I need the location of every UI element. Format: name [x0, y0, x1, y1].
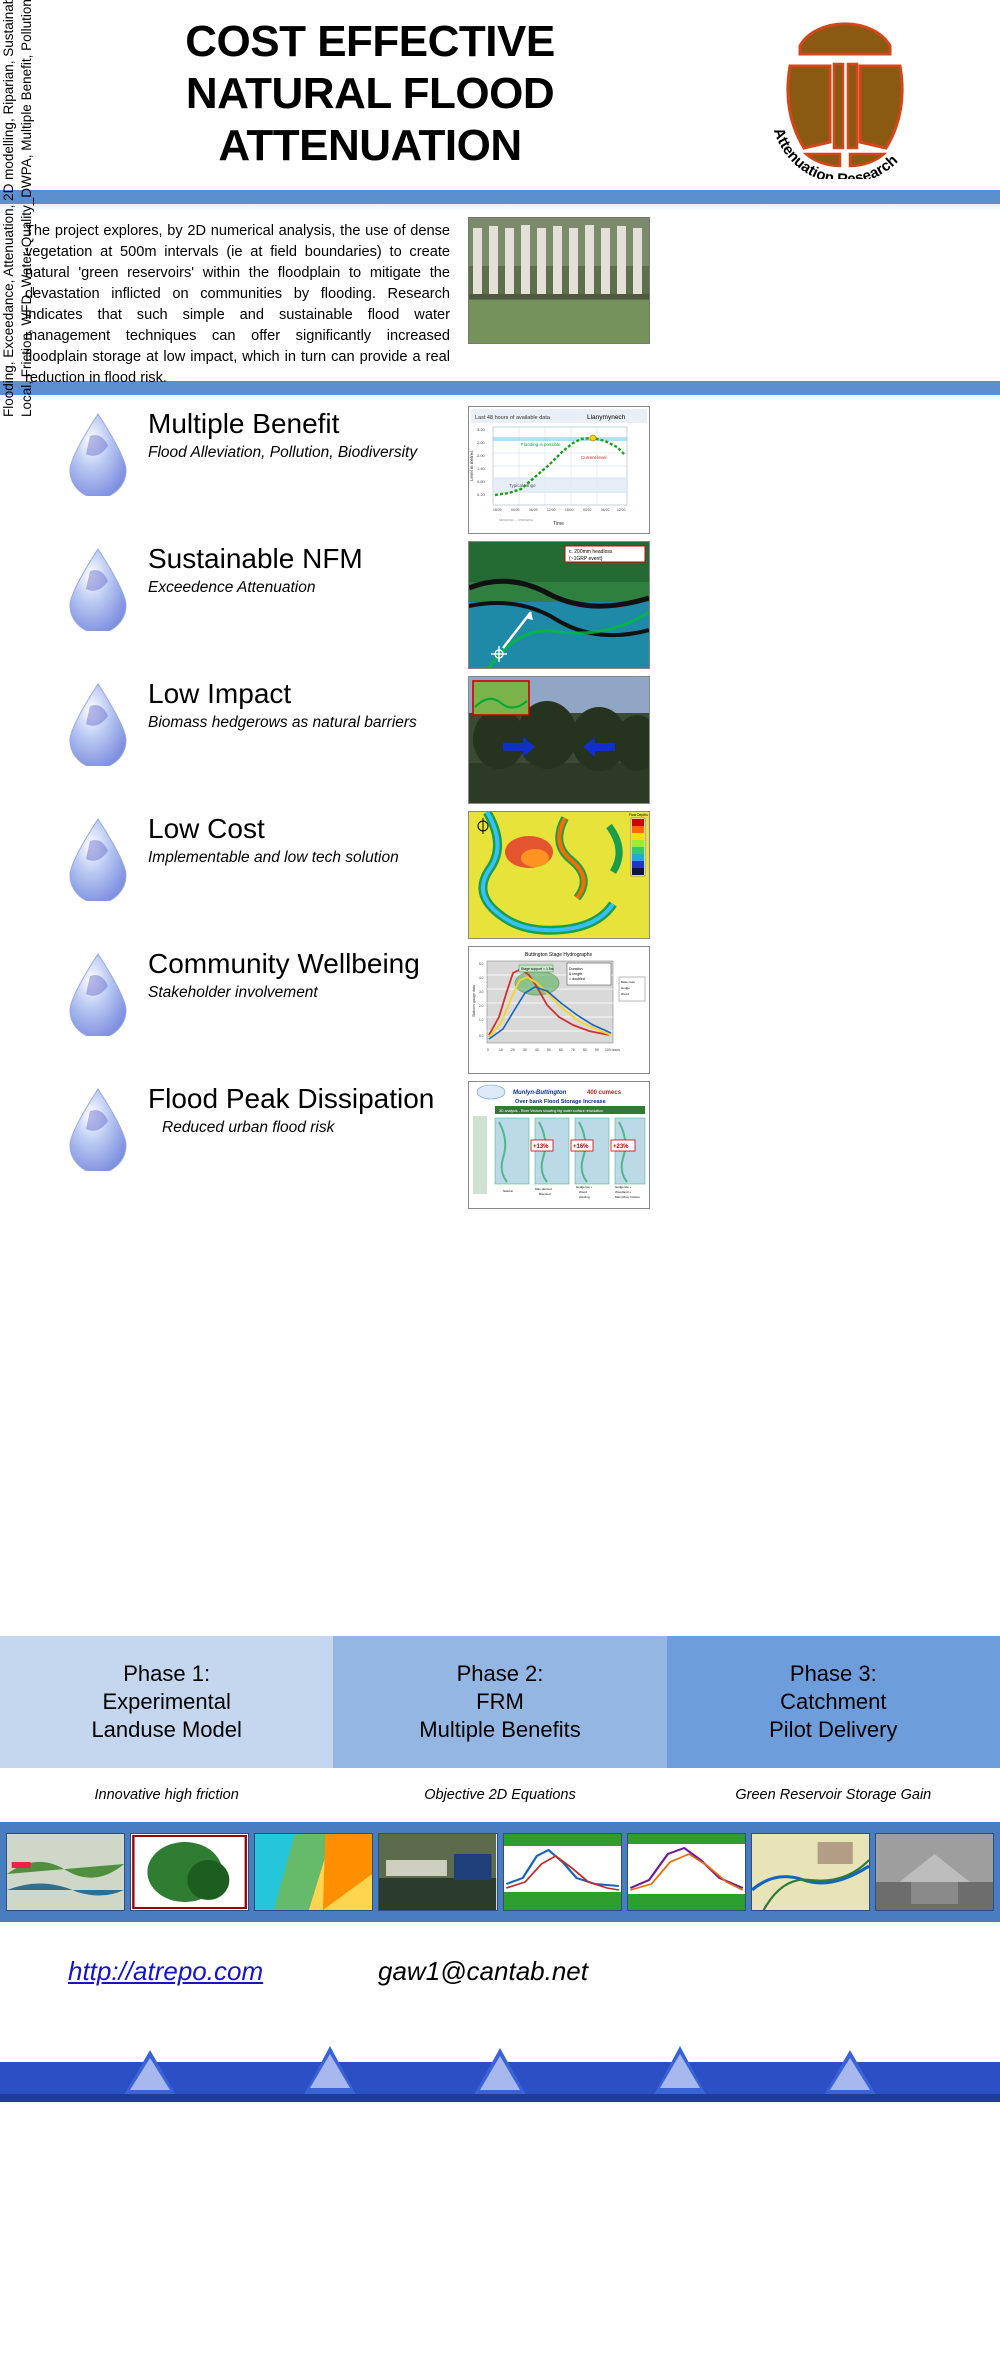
filmstrip-thumb[interactable]: [254, 1833, 373, 1911]
svg-text:3.0: 3.0: [479, 990, 484, 994]
svg-text:1.0: 1.0: [479, 1018, 484, 1022]
svg-text:Wood: Wood: [621, 992, 629, 996]
svg-text:04/03/2011 — 05/03/2011: 04/03/2011 — 05/03/2011: [499, 518, 534, 522]
benefit-subtext: Stakeholder involvement: [148, 984, 478, 1003]
phase-1-caption: Innovative high friction: [0, 1768, 333, 1822]
svg-text:Flow Depths: Flow Depths: [629, 813, 648, 817]
svg-text:1.40: 1.40: [477, 466, 486, 471]
water-drop-icon: [66, 817, 130, 901]
svg-text:12/00: 12/00: [547, 508, 556, 512]
benefit-text: Sustainable NFM Exceedence Attenuation: [148, 543, 478, 598]
attenuation-research-logo: Attenuation Research: [760, 14, 930, 179]
svg-text:2.00: 2.00: [477, 453, 486, 458]
phase-3-line-1: Phase 3:: [769, 1660, 897, 1688]
benefit-row: Community Wellbeing Stakeholder involvem…: [48, 946, 1000, 1081]
poster-footer: http://atrepo.com gaw1@cantab.net: [0, 1922, 1000, 2032]
svg-text:Over bank Flood Storage Increa: Over bank Flood Storage Increase: [515, 1099, 606, 1105]
phase-2-line-1: Phase 2:: [419, 1660, 580, 1688]
svg-text:90: 90: [595, 1048, 599, 1052]
logo-icon: Attenuation Research: [760, 14, 930, 179]
svg-text:Flooding is possible: Flooding is possible: [521, 442, 561, 447]
benefit-figure: Last 48 hours of available data Llanymyn…: [468, 406, 650, 534]
phase-2-caption: Objective 2D Equations: [333, 1768, 666, 1822]
svg-text:Base case: Base case: [621, 980, 635, 984]
keywords-line-1: Flooding, Exceedance, Attenuation, 2D mo…: [1, 0, 16, 417]
svg-text:400 cumecs: 400 cumecs: [587, 1090, 622, 1096]
svg-text:3.20: 3.20: [477, 427, 486, 432]
benefit-subtext: Exceedence Attenuation: [148, 579, 478, 598]
svg-text:Munlyn-Buttington: Munlyn-Buttington: [513, 1090, 567, 1096]
svg-text:30: 30: [523, 1048, 527, 1052]
phase-3-line-3: Pilot Delivery: [769, 1716, 897, 1744]
svg-text:Time: Time: [553, 521, 564, 527]
svg-text:12/00: 12/00: [617, 508, 626, 512]
svg-text:planting: planting: [579, 1195, 590, 1199]
water-drop-icon: [66, 547, 130, 631]
svg-text:Llanymynech: Llanymynech: [587, 414, 626, 421]
svg-text:Typical range: Typical range: [509, 483, 536, 488]
phase-card-1[interactable]: Phase 1: Experimental Landuse Model: [0, 1636, 333, 1768]
benefit-heading: Sustainable NFM: [148, 543, 478, 574]
svg-text:4.0: 4.0: [479, 976, 484, 980]
benefit-subtext: Flood Alleviation, Pollution, Biodiversi…: [148, 444, 478, 463]
page-title: COST EFFECTIVE NATURAL FLOOD ATTENUATION: [60, 16, 680, 172]
title-line-1: COST EFFECTIVE: [60, 16, 680, 68]
svg-text:Hedgerow +: Hedgerow +: [615, 1185, 632, 1189]
svg-text:2.60: 2.60: [477, 440, 486, 445]
svg-text:70: 70: [571, 1048, 575, 1052]
svg-text:Woodland +: Woodland +: [615, 1190, 631, 1194]
title-line-2: NATURAL FLOOD: [60, 68, 680, 120]
svg-text:Natural: Natural: [503, 1189, 513, 1193]
water-drop-icon: [66, 952, 130, 1036]
benefit-figure: Munlyn-Buttington 400 cumecs Over bank F…: [468, 1081, 650, 1209]
svg-text:Duration: Duration: [569, 967, 583, 971]
svg-text:Current level: Current level: [581, 455, 607, 460]
svg-text:18/09: 18/09: [493, 508, 502, 512]
filmstrip-thumb[interactable]: [130, 1833, 249, 1911]
benefit-figure: Flow Depths: [468, 811, 650, 939]
benefit-text: Community Wellbeing Stakeholder involvem…: [148, 948, 478, 1003]
benefit-subtext: Implementable and low tech solution: [148, 849, 478, 868]
svg-text:40: 40: [535, 1048, 539, 1052]
benefit-text: Multiple Benefit Flood Alleviation, Poll…: [148, 408, 478, 463]
contact-email: gaw1@cantab.net: [378, 1956, 588, 1987]
phase-2-line-3: Multiple Benefits: [419, 1716, 580, 1744]
svg-text:+13%: +13%: [533, 1144, 549, 1150]
divider-fade-mid: [0, 395, 1000, 402]
filmstrip-thumb[interactable]: [503, 1833, 622, 1911]
benefit-text: Flood Peak Dissipation Reduced urban flo…: [148, 1083, 478, 1138]
filmstrip-thumb[interactable]: [875, 1833, 994, 1911]
floodplain-aerial-map-icon: c. 200mm headloss (~1GRP event): [469, 542, 649, 668]
benefit-heading: Low Impact: [148, 678, 478, 709]
buttington-stage-hydrograph-icon: Buttington Stage Hydrographs Duration: [469, 947, 649, 1073]
thumbnail-filmstrip: [0, 1822, 1000, 1922]
hedgerow-barrier-photo-icon: [469, 677, 649, 803]
phase-card-2[interactable]: Phase 2: FRM Multiple Benefits: [333, 1636, 666, 1768]
phase-3-line-2: Catchment: [769, 1688, 897, 1716]
benefit-row: Multiple Benefit Flood Alleviation, Poll…: [48, 406, 1000, 541]
filmstrip-thumb[interactable]: [751, 1833, 870, 1911]
svg-text:Bisected: Bisected: [539, 1192, 551, 1196]
svg-text:0: 0: [487, 1048, 489, 1052]
bottom-tree-graphic-icon: [0, 2032, 1000, 2102]
svg-text:& length: & length: [569, 972, 582, 976]
svg-text:Main River Friction: Main River Friction: [615, 1195, 640, 1199]
phase-card-3[interactable]: Phase 3: Catchment Pilot Delivery: [667, 1636, 1000, 1768]
svg-text:3D analysis - River Vectors sh: 3D analysis - River Vectors showing big …: [499, 1109, 603, 1113]
svg-text:0.80: 0.80: [477, 479, 486, 484]
svg-text:Hedgerow +: Hedgerow +: [576, 1185, 593, 1189]
keywords-sidebar: Flooding, Exceedance, Attenuation, 2D mo…: [0, 402, 40, 1592]
storage-increase-panels-icon: Munlyn-Buttington 400 cumecs Over bank F…: [469, 1082, 649, 1208]
poster-header: COST EFFECTIVE NATURAL FLOOD ATTENUATION: [0, 0, 1000, 190]
benefit-row: Low Impact Biomass hedgerows as natural …: [48, 676, 1000, 811]
phase-1-line-3: Landuse Model: [91, 1716, 241, 1744]
benefit-figure: Buttington Stage Hydrographs Duration: [468, 946, 650, 1074]
benefit-rows: Multiple Benefit Flood Alleviation, Poll…: [48, 406, 1000, 1216]
phase-2-line-2: FRM: [419, 1688, 580, 1716]
benefit-text: Low Cost Implementable and low tech solu…: [148, 813, 478, 868]
svg-text:00/02: 00/02: [583, 508, 592, 512]
phase-3-caption: Green Reservoir Storage Gain: [667, 1768, 1000, 1822]
intro-photo: [468, 217, 650, 344]
phases-row: Phase 1: Experimental Landuse Model Phas…: [0, 1636, 1000, 1768]
benefit-figure: c. 200mm headloss (~1GRP event): [468, 541, 650, 669]
svg-text:00/09: 00/09: [511, 508, 520, 512]
water-drop-icon: [66, 682, 130, 766]
svg-text:0.0: 0.0: [479, 1034, 484, 1038]
svg-text:Man-derived: Man-derived: [535, 1187, 552, 1191]
title-line-3: ATTENUATION: [60, 120, 680, 172]
bottom-graphic-bar: [0, 2032, 1000, 2102]
svg-text:80: 80: [583, 1048, 587, 1052]
benefit-text: Low Impact Biomass hedgerows as natural …: [148, 678, 478, 733]
phase-1-line-2: Experimental: [91, 1688, 241, 1716]
phase-1-line-1: Phase 1:: [91, 1660, 241, 1688]
filmstrip-thumb[interactable]: [378, 1833, 497, 1911]
svg-text:0.20: 0.20: [477, 492, 486, 497]
benefit-subtext: Biomass hedgerows as natural barriers: [148, 714, 478, 733]
svg-text:Buttington Stage Hydrographs: Buttington Stage Hydrographs: [525, 952, 592, 958]
river-stage-hydrograph-icon: Last 48 hours of available data Llanymyn…: [469, 407, 649, 533]
project-url-link[interactable]: http://atrepo.com: [68, 1956, 263, 1987]
poster-root: COST EFFECTIVE NATURAL FLOOD ATTENUATION: [0, 0, 1000, 2371]
svg-text:Stations gauge data: Stations gauge data: [472, 985, 476, 1017]
svg-text:100 hours: 100 hours: [605, 1048, 620, 1052]
hedgerow-photo-icon: [469, 218, 649, 343]
svg-text:Wood: Wood: [579, 1190, 587, 1194]
svg-text:06/02: 06/02: [601, 508, 610, 512]
svg-text:Last 48 hours of available dat: Last 48 hours of available data: [475, 415, 551, 421]
svg-text:Hedge: Hedge: [621, 986, 630, 990]
divider-fade-top: [0, 204, 1000, 211]
svg-text:2.0: 2.0: [479, 1004, 484, 1008]
benefit-heading: Flood Peak Dissipation: [148, 1083, 478, 1114]
benefit-figure: [468, 676, 650, 804]
intro-paragraph: The project explores, by 2D numerical an…: [25, 221, 450, 389]
svg-text:18/00: 18/00: [565, 508, 574, 512]
water-drop-icon: [66, 412, 130, 496]
water-drop-icon: [66, 1087, 130, 1171]
phase-captions-row: Innovative high friction Objective 2D Eq…: [0, 1768, 1000, 1822]
svg-text:+23%: +23%: [613, 1144, 629, 1150]
svg-text:10: 10: [499, 1048, 503, 1052]
benefit-row: Low Cost Implementable and low tech solu…: [48, 811, 1000, 946]
benefit-heading: Low Cost: [148, 813, 478, 844]
divider-bar-top: [0, 190, 1000, 204]
benefit-subtext: Reduced urban flood risk: [148, 1119, 478, 1138]
benefit-row: Flood Peak Dissipation Reduced urban flo…: [48, 1081, 1000, 1216]
filmstrip-thumb[interactable]: [6, 1833, 125, 1911]
svg-text:c. 200mm headloss: c. 200mm headloss: [569, 549, 613, 555]
svg-text:(~1GRP event): (~1GRP event): [569, 556, 603, 562]
benefits-section: Flooding, Exceedance, Attenuation, 2D mo…: [0, 402, 1000, 1632]
depth-contour-model-icon: Flow Depths: [469, 812, 649, 938]
svg-text:= doubled: = doubled: [569, 977, 585, 981]
intro-section: The project explores, by 2D numerical an…: [0, 211, 1000, 381]
svg-text:Level in metres: Level in metres: [469, 450, 474, 481]
keywords-line-2: Local, Friction, WFD_Water-Quality_DWPA,…: [19, 0, 34, 417]
svg-text:Stage support = 1.5m: Stage support = 1.5m: [521, 967, 554, 971]
svg-text:50: 50: [547, 1048, 551, 1052]
benefit-row: Sustainable NFM Exceedence Attenuation c…: [48, 541, 1000, 676]
svg-text:5.0: 5.0: [479, 962, 484, 966]
svg-text:60: 60: [559, 1048, 563, 1052]
filmstrip-thumb[interactable]: [627, 1833, 746, 1911]
svg-text:20: 20: [511, 1048, 515, 1052]
svg-text:+16%: +16%: [573, 1144, 589, 1150]
benefit-heading: Community Wellbeing: [148, 948, 478, 979]
benefit-heading: Multiple Benefit: [148, 408, 478, 439]
svg-text:06/09: 06/09: [529, 508, 538, 512]
